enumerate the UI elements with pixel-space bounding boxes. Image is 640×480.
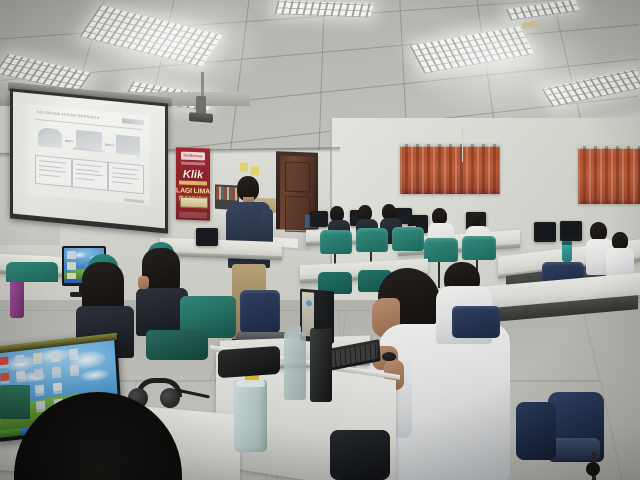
smoke-detector-icon: [522, 21, 539, 29]
slide-footer: [124, 198, 143, 203]
purple-water-bottle: [10, 276, 24, 318]
chair[interactable]: [392, 227, 424, 251]
computer-monitor: [196, 228, 218, 246]
slide-icon-laptop: [76, 129, 103, 150]
power-button-icon[interactable]: [306, 300, 312, 307]
slide-box-2: [72, 158, 108, 191]
banner-footer: [179, 212, 208, 219]
fluorescent-troffer: [409, 26, 534, 73]
desktop-icon[interactable]: [67, 262, 76, 273]
computer-monitor: [560, 221, 582, 241]
desktop-icon[interactable]: [35, 384, 45, 396]
fluorescent-troffer: [79, 5, 223, 67]
chair-dark-foreground[interactable]: [330, 430, 390, 480]
desktop-icon[interactable]: [53, 382, 63, 394]
chair[interactable]: [462, 236, 496, 260]
bottle-cap: [288, 326, 301, 334]
fluorescent-troffer: [274, 0, 373, 17]
projection-screen-surface: KELEBIHAN eKEDAI BERNIAGA: [13, 92, 165, 229]
desktop-icon[interactable]: [0, 372, 10, 384]
computer-mouse[interactable]: [382, 352, 396, 361]
banner-brand: NetBernas: [181, 151, 205, 160]
chair-caster: [586, 462, 600, 476]
desktop-icon[interactable]: [33, 352, 43, 364]
desktop-icon[interactable]: [15, 355, 25, 367]
desktop-icon[interactable]: [34, 368, 44, 380]
teal-tumbler: [562, 244, 572, 262]
orange-pleated-curtain: [578, 146, 640, 204]
chair[interactable]: [320, 230, 352, 254]
chair[interactable]: [356, 228, 388, 252]
banner-numbers: [180, 197, 208, 209]
sticky-note: [240, 162, 248, 171]
frosted-water-bottle: [234, 380, 267, 452]
computer-monitor: [310, 211, 328, 227]
sticky-note: [251, 166, 259, 175]
banner-subheadline: [179, 181, 206, 186]
clear-water-bottle: [284, 332, 306, 400]
black-water-bottle: [310, 328, 332, 402]
ceiling-projector: [189, 112, 213, 123]
green-chair-back: [6, 262, 58, 282]
projector-pole: [201, 72, 204, 98]
bag-on-desk: [218, 346, 280, 378]
bottle-cap: [314, 320, 327, 329]
slide-arrow-1: [65, 139, 75, 142]
hand: [138, 276, 149, 289]
computer-monitor: [534, 222, 556, 242]
desktop-icon[interactable]: [16, 371, 26, 383]
slide-box-1: [35, 154, 71, 187]
slide-logo: [122, 119, 144, 126]
banner-tagline: [181, 161, 205, 165]
chair[interactable]: [452, 306, 500, 338]
green-waste-bin: [0, 385, 30, 419]
start-button[interactable]: [0, 428, 22, 437]
tumbler-cap: [562, 241, 572, 245]
bottle-neck: [236, 380, 265, 387]
slide-icon-shop: [116, 134, 140, 156]
presentation-slide: KELEBIHAN eKEDAI BERNIAGA: [28, 104, 150, 206]
desktop-icon[interactable]: [0, 356, 9, 368]
projection-screen: KELEBIHAN eKEDAI BERNIAGA: [10, 88, 168, 233]
chair[interactable]: [240, 290, 280, 334]
teal-chair-left-2[interactable]: [146, 330, 208, 360]
navy-chair-foreground-2[interactable]: [516, 402, 556, 460]
slide-arrow-2: [105, 143, 115, 146]
desktop-icon[interactable]: [70, 364, 80, 376]
desktop-icon[interactable]: [51, 350, 61, 362]
curtain-cord[interactable]: [462, 128, 463, 162]
desktop-icon[interactable]: [67, 251, 76, 262]
books: [216, 186, 238, 200]
slide-box-3: [108, 161, 144, 194]
slide-icon-users: [38, 127, 62, 149]
promotional-banner: NetBernas Klik LAGI LIMA BANYAK: [176, 147, 210, 220]
classroom-photo-scene: KELEBIHAN eKEDAI BERNIAGA: [0, 0, 640, 480]
desktop-icon[interactable]: [69, 348, 79, 360]
orange-pleated-curtain: [400, 144, 500, 194]
chair[interactable]: [424, 238, 458, 262]
desktop-icon[interactable]: [52, 366, 62, 378]
